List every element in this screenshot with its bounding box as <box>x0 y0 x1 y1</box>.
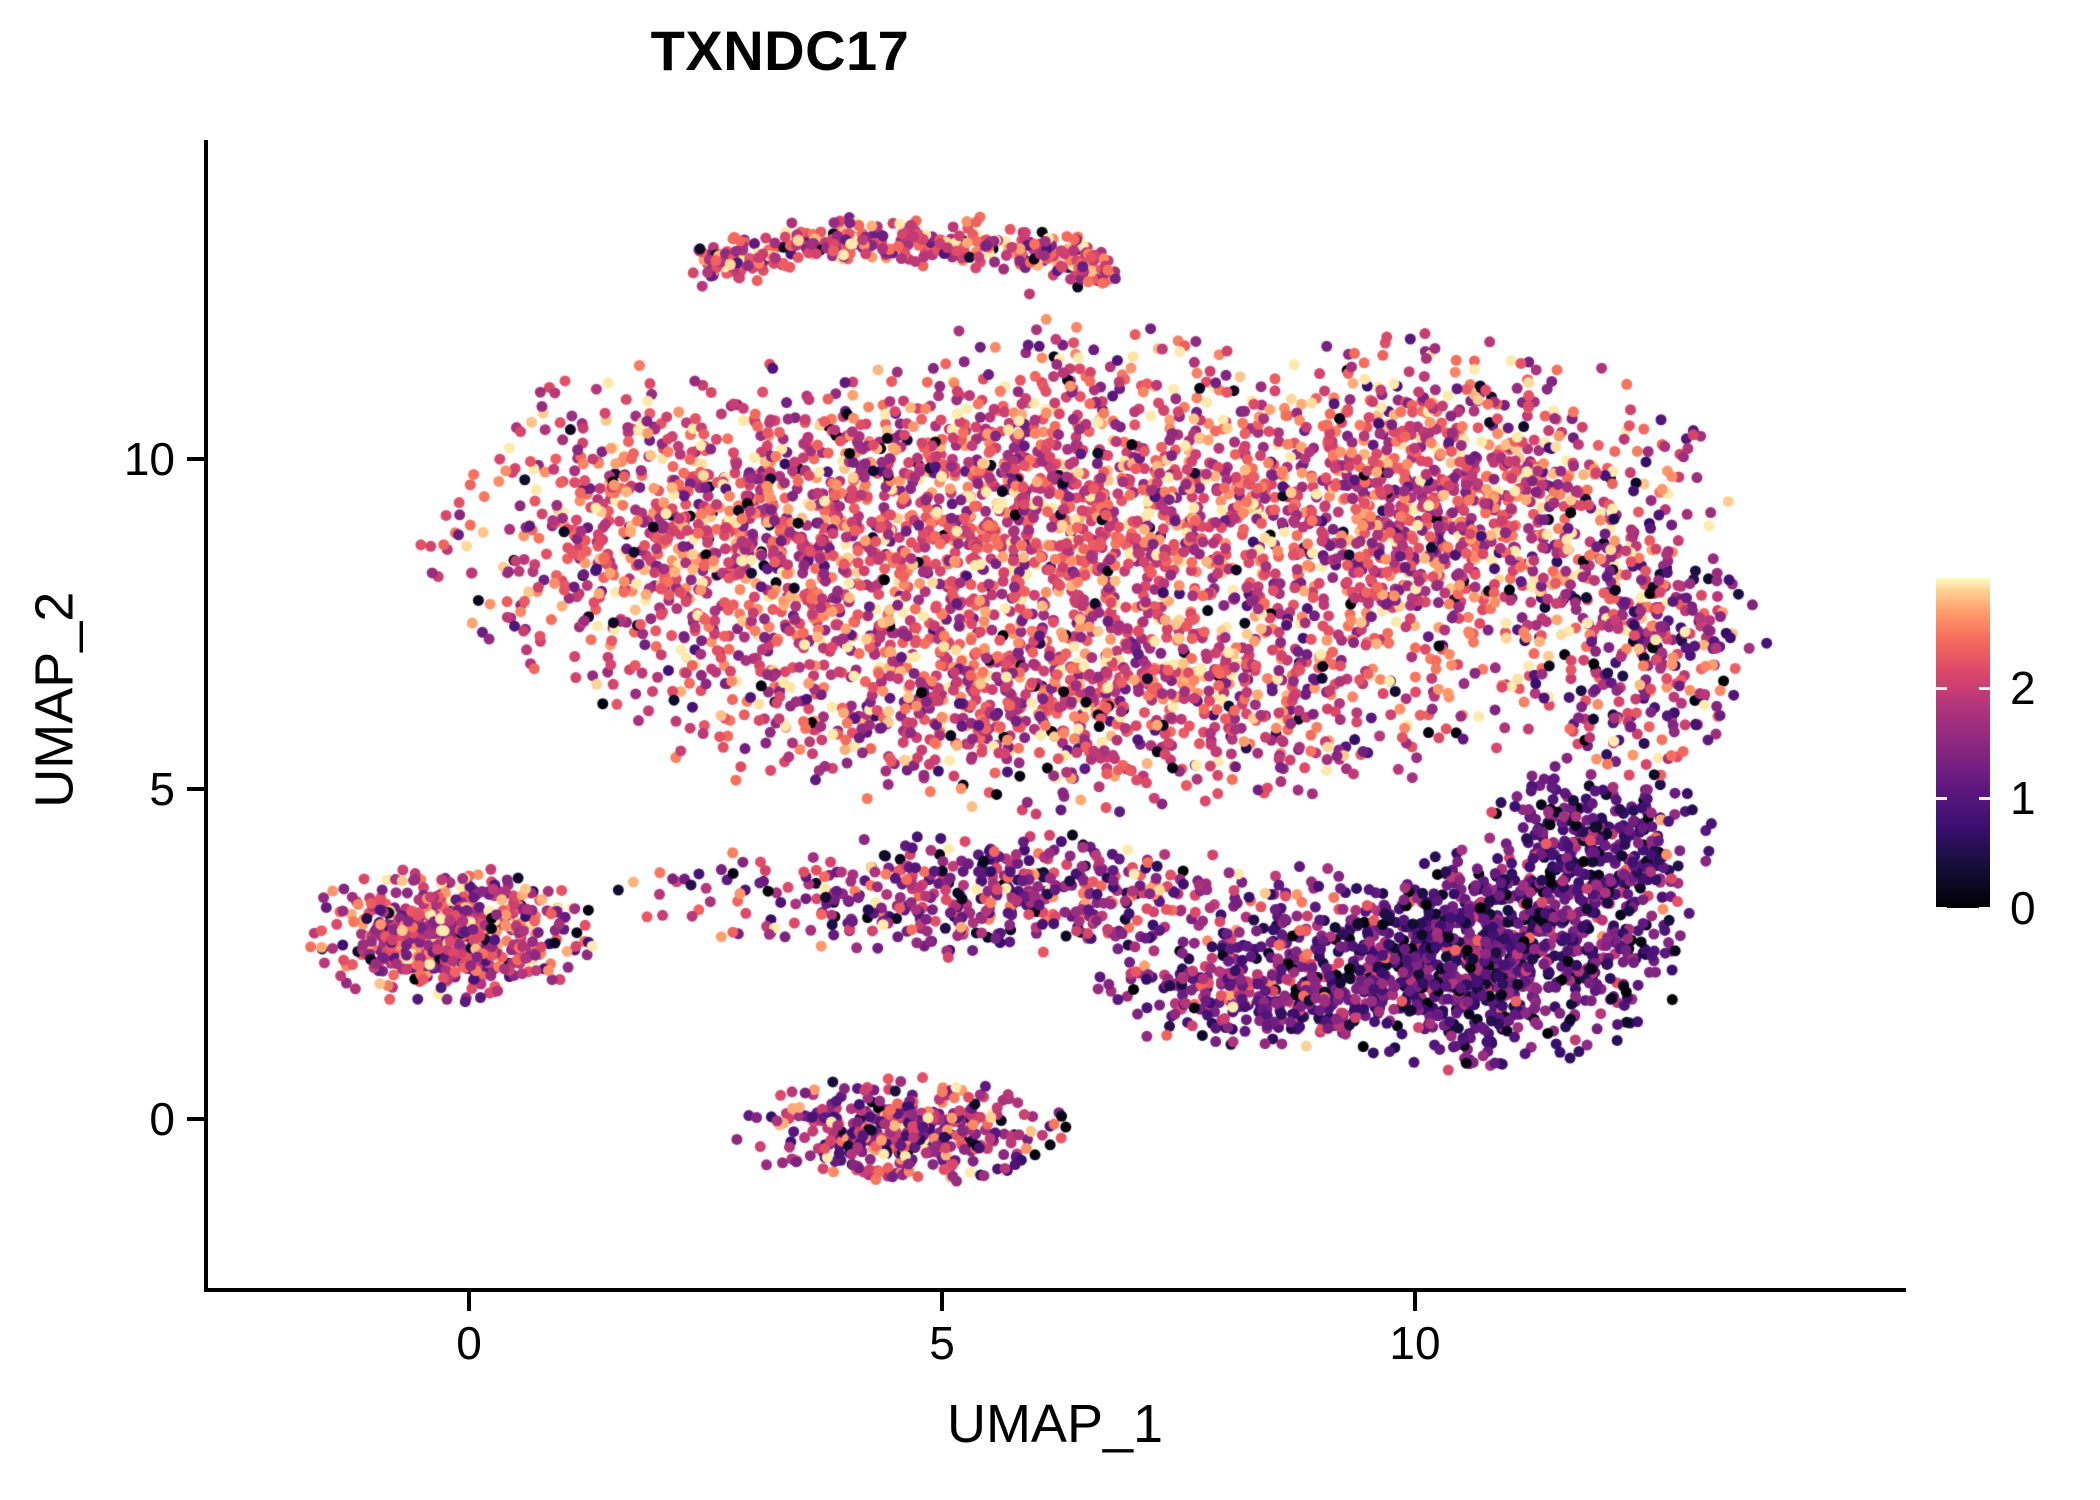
y-axis-title: UMAP_2 <box>25 400 84 1000</box>
colorbar-tick-mark <box>1936 687 1947 690</box>
x-tick-mark <box>940 1292 944 1311</box>
plot-panel <box>205 140 1905 1290</box>
x-tick-label: 5 <box>929 1320 955 1366</box>
x-tick-label: 10 <box>1389 1320 1440 1366</box>
colorbar-tick-mark <box>1936 907 1947 910</box>
y-tick-label: 0 <box>45 1096 175 1142</box>
colorbar-legend: 012 <box>1936 578 2076 908</box>
x-axis-line <box>204 1288 1906 1292</box>
page-title: TXNDC17 <box>0 20 1560 82</box>
y-tick-mark <box>187 457 205 461</box>
colorbar-tick-mark <box>1979 907 1990 910</box>
colorbar-gradient <box>1936 578 1990 908</box>
x-axis-title: UMAP_1 <box>205 1395 1905 1454</box>
colorbar-tick-mark <box>1936 797 1947 800</box>
umap-feature-plot: TXNDC17 0510 0510 UMAP_1 UMAP_2 012 <box>0 0 2100 1500</box>
y-tick-mark <box>187 1117 205 1121</box>
colorbar-tick-label: 1 <box>2010 775 2036 821</box>
x-tick-mark <box>467 1292 471 1311</box>
x-tick-mark <box>1413 1292 1417 1311</box>
colorbar-tick-mark <box>1979 687 1990 690</box>
colorbar-tick-label: 0 <box>2010 885 2036 931</box>
scatter-points-layer <box>205 140 1905 1290</box>
colorbar-tick-mark <box>1979 797 1990 800</box>
y-tick-mark <box>187 787 205 791</box>
colorbar-tick-label: 2 <box>2010 665 2036 711</box>
x-tick-label: 0 <box>456 1320 482 1366</box>
